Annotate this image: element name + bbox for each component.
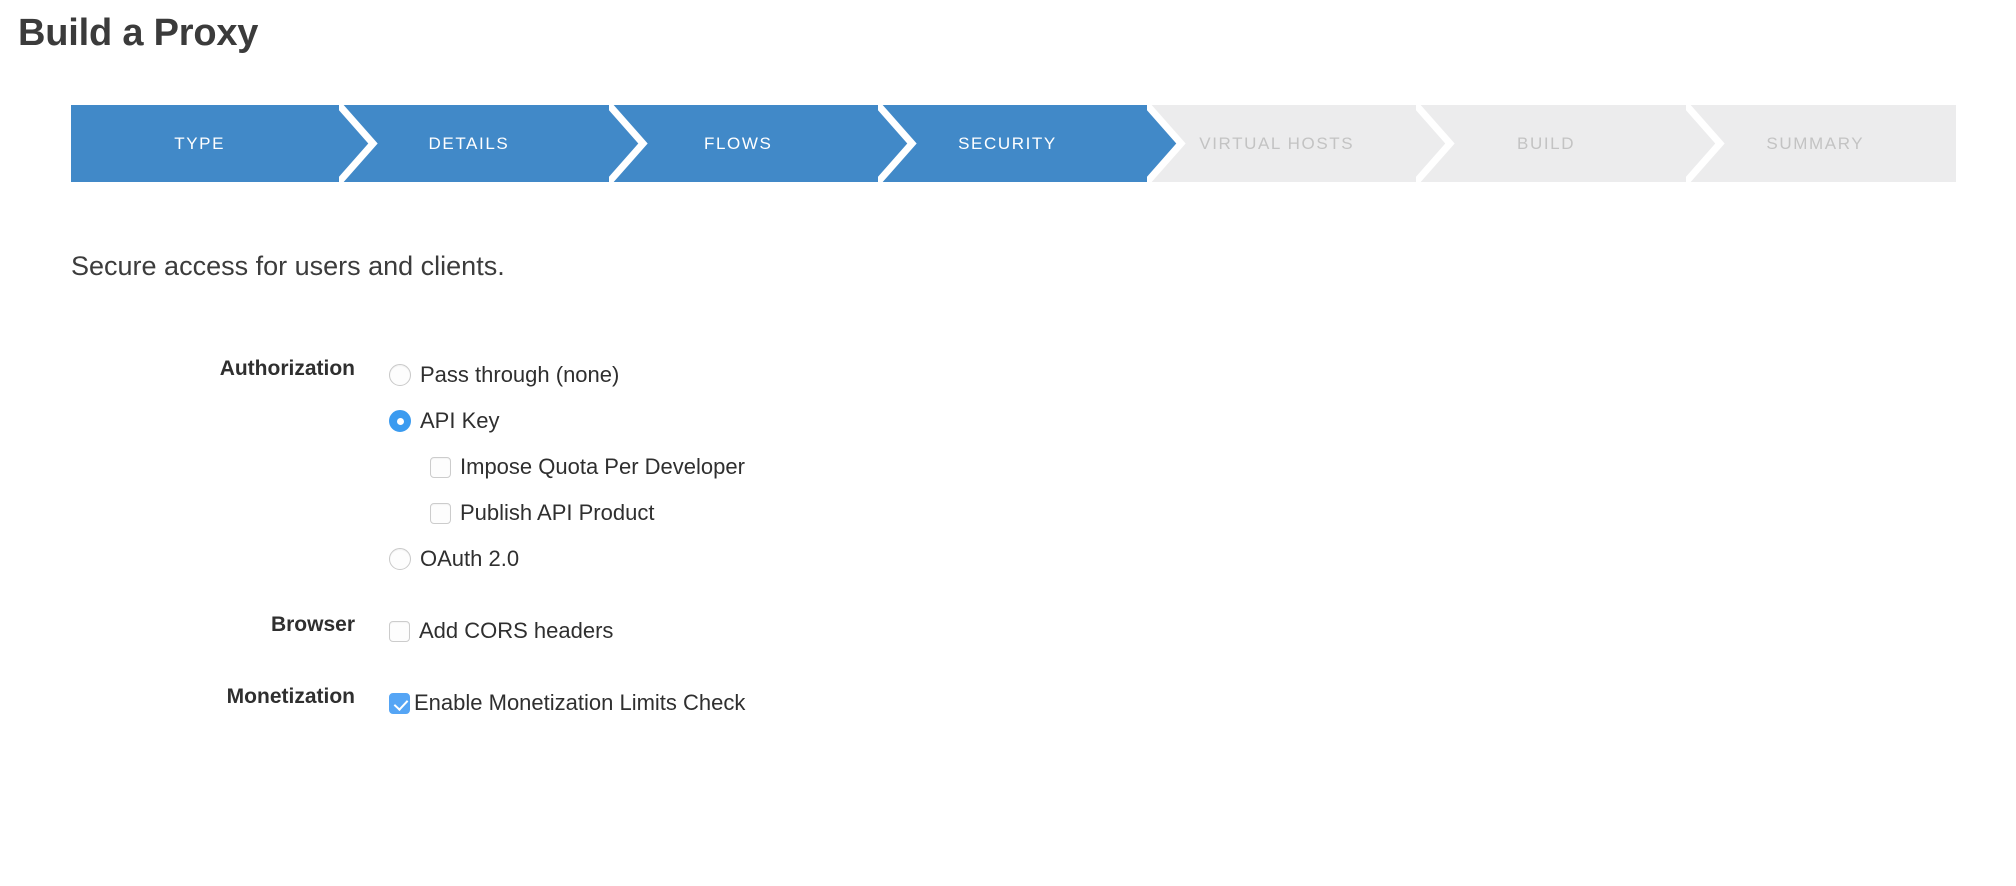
authorization-options: Pass through (none)API KeyImpose Quota P… [355,352,745,582]
security-form: Authorization Pass through (none)API Key… [0,352,2016,726]
radio-label-oauth-2-0: OAuth 2.0 [420,546,519,572]
wizard-step-label: DETAILS [429,134,510,154]
wizard-step-label: VIRTUAL HOSTS [1199,134,1354,154]
radio-label-pass-through-none: Pass through (none) [420,362,619,388]
form-row-monetization: Monetization Enable Monetization Limits … [0,680,2016,726]
radio-oauth-2-0[interactable] [389,548,411,570]
wizard-step-bar: TYPEDETAILSFLOWSSECURITYVIRTUAL HOSTSBUI… [71,105,1956,182]
checkbox-option-add-cors-headers[interactable]: Add CORS headers [389,608,613,654]
monetization-options: Enable Monetization Limits Check [355,680,745,726]
page-subtitle: Secure access for users and clients. [71,249,505,283]
browser-options: Add CORS headers [355,608,613,654]
checkbox-add-cors-headers[interactable] [389,621,410,642]
wizard-step-type[interactable]: TYPE [71,105,340,182]
wizard-step-virtual-hosts[interactable]: VIRTUAL HOSTS [1148,105,1417,182]
radio-pass-through-none[interactable] [389,364,411,386]
radio-label-api-key: API Key [420,408,499,434]
wizard-step-label: FLOWS [704,134,772,154]
form-row-authorization: Authorization Pass through (none)API Key… [0,352,2016,582]
page-title: Build a Proxy [18,10,258,56]
spacer [0,582,2016,608]
radio-option-oauth-2-0[interactable]: OAuth 2.0 [389,536,745,582]
checkbox-label-publish-api-product: Publish API Product [460,500,654,526]
checkbox-option-enable-monetization-limits-check[interactable]: Enable Monetization Limits Check [389,680,745,726]
wizard-step-label: TYPE [174,134,225,154]
checkbox-publish-api-product[interactable] [430,503,451,524]
checkbox-option-publish-api-product[interactable]: Publish API Product [389,490,745,536]
monetization-label: Monetization [0,680,355,709]
checkbox-enable-monetization-limits-check[interactable] [389,693,410,714]
wizard-step-flows[interactable]: FLOWS [610,105,879,182]
wizard-step-build[interactable]: BUILD [1417,105,1686,182]
form-row-browser: Browser Add CORS headers [0,608,2016,654]
wizard-step-details[interactable]: DETAILS [340,105,609,182]
wizard-step-security[interactable]: SECURITY [879,105,1148,182]
checkbox-label-impose-quota-per-developer: Impose Quota Per Developer [460,454,745,480]
wizard-step-summary[interactable]: SUMMARY [1687,105,1956,182]
wizard-step-label: SECURITY [958,134,1057,154]
authorization-label: Authorization [0,352,355,381]
wizard-step-label: SUMMARY [1766,134,1864,154]
spacer [0,654,2016,680]
checkbox-label-add-cors-headers: Add CORS headers [419,618,613,644]
checkbox-label-enable-monetization-limits-check: Enable Monetization Limits Check [414,690,745,716]
checkbox-option-impose-quota-per-developer[interactable]: Impose Quota Per Developer [389,444,745,490]
radio-option-pass-through-none[interactable]: Pass through (none) [389,352,745,398]
radio-option-api-key[interactable]: API Key [389,398,745,444]
browser-label: Browser [0,608,355,637]
radio-api-key[interactable] [389,410,411,432]
checkbox-impose-quota-per-developer[interactable] [430,457,451,478]
wizard-step-label: BUILD [1517,134,1575,154]
